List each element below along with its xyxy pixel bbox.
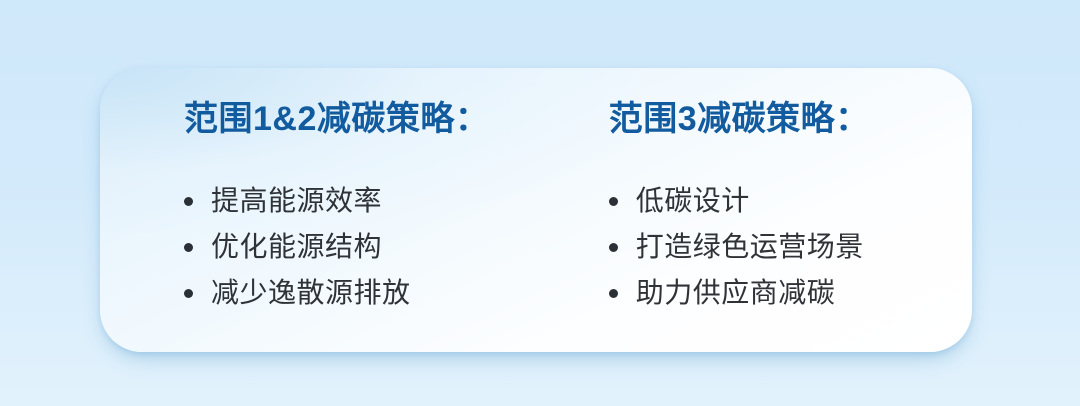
bullet-list-scope3: 低碳设计 打造绿色运营场景 助力供应商减碳 — [609, 178, 864, 316]
list-item: 优化能源结构 — [184, 224, 411, 270]
strategy-column-scope3: 范围3减碳策略： 低碳设计 打造绿色运营场景 助力供应商减碳 — [525, 68, 972, 352]
strategy-columns: 范围1&2减碳策略： 提高能源效率 优化能源结构 减少逸散源排放 — [100, 68, 972, 352]
slide-canvas: 范围1&2减碳策略： 提高能源效率 优化能源结构 减少逸散源排放 — [0, 0, 1080, 406]
list-item: 低碳设计 — [609, 178, 864, 224]
bullet-dot-icon — [184, 289, 193, 298]
bullet-list-scope12: 提高能源效率 优化能源结构 减少逸散源排放 — [184, 178, 411, 316]
strategy-column-scope12: 范围1&2减碳策略： 提高能源效率 优化能源结构 减少逸散源排放 — [100, 68, 525, 352]
strategy-card: 范围1&2减碳策略： 提高能源效率 优化能源结构 减少逸散源排放 — [100, 68, 972, 352]
list-item: 打造绿色运营场景 — [609, 224, 864, 270]
list-item: 助力供应商减碳 — [609, 270, 864, 316]
bullet-label: 优化能源结构 — [211, 233, 382, 261]
list-item: 减少逸散源排放 — [184, 270, 411, 316]
bullet-dot-icon — [609, 197, 618, 206]
bullet-label: 低碳设计 — [636, 187, 750, 215]
bullet-label: 提高能源效率 — [211, 187, 382, 215]
bullet-label: 助力供应商减碳 — [636, 279, 836, 307]
bullet-label: 打造绿色运营场景 — [636, 233, 864, 261]
bullet-dot-icon — [184, 197, 193, 206]
bullet-dot-icon — [184, 243, 193, 252]
list-item: 提高能源效率 — [184, 178, 411, 224]
bullet-dot-icon — [609, 289, 618, 298]
column-heading-scope12: 范围1&2减碳策略： — [184, 102, 489, 136]
bullet-dot-icon — [609, 243, 618, 252]
column-heading-scope3: 范围3减碳策略： — [609, 102, 870, 136]
bullet-label: 减少逸散源排放 — [211, 279, 411, 307]
